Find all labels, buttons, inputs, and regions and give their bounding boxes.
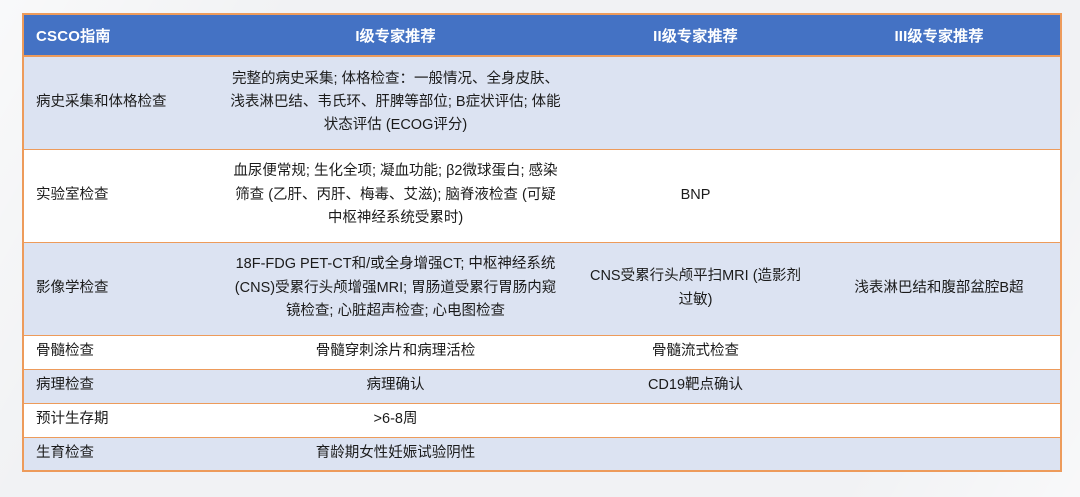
row-level-2-cell (573, 56, 818, 149)
row-level-1-cell: 骨髓穿刺涂片和病理活检 (218, 335, 573, 369)
table-row: 实验室检查 血尿便常规; 生化全项; 凝血功能; β2微球蛋白; 感染筛查 (乙… (23, 149, 1061, 242)
table-row: 病理检查 病理确认 CD19靶点确认 (23, 369, 1061, 403)
row-level-3-cell (818, 56, 1061, 149)
column-header-level-3: III级专家推荐 (818, 14, 1061, 56)
row-level-1-cell: 完整的病史采集; 体格检查：一般情况、全身皮肤、浅表淋巴结、韦氏环、肝脾等部位;… (218, 56, 573, 149)
row-level-2-cell: BNP (573, 149, 818, 242)
row-category-label: 实验室检查 (23, 149, 218, 242)
row-category-label: 病史采集和体格检查 (23, 56, 218, 149)
row-level-3-cell (818, 403, 1061, 437)
column-header-csco-guideline: CSCO指南 (23, 14, 218, 56)
table-row: 生育检查 育龄期女性妊娠试验阴性 (23, 437, 1061, 471)
row-level-3-cell (818, 437, 1061, 471)
row-level-1-cell: 18F-FDG PET-CT和/或全身增强CT; 中枢神经系统 (CNS)受累行… (218, 242, 573, 335)
row-level-1-cell: 育龄期女性妊娠试验阴性 (218, 437, 573, 471)
row-level-1-cell: >6-8周 (218, 403, 573, 437)
row-level-3-cell: 浅表淋巴结和腹部盆腔B超 (818, 242, 1061, 335)
csco-guideline-table: CSCO指南 I级专家推荐 II级专家推荐 III级专家推荐 病史采集和体格检查… (22, 13, 1062, 472)
row-level-3-cell (818, 335, 1061, 369)
row-level-1-cell: 血尿便常规; 生化全项; 凝血功能; β2微球蛋白; 感染筛查 (乙肝、丙肝、梅… (218, 149, 573, 242)
column-header-level-2: II级专家推荐 (573, 14, 818, 56)
table-row: 骨髓检查 骨髓穿刺涂片和病理活检 骨髓流式检查 (23, 335, 1061, 369)
table-body: 病史采集和体格检查 完整的病史采集; 体格检查：一般情况、全身皮肤、浅表淋巴结、… (23, 56, 1061, 471)
table-row: 影像学检查 18F-FDG PET-CT和/或全身增强CT; 中枢神经系统 (C… (23, 242, 1061, 335)
table-header-row: CSCO指南 I级专家推荐 II级专家推荐 III级专家推荐 (23, 14, 1061, 56)
row-category-label: 生育检查 (23, 437, 218, 471)
column-header-level-1: I级专家推荐 (218, 14, 573, 56)
table-header: CSCO指南 I级专家推荐 II级专家推荐 III级专家推荐 (23, 14, 1061, 56)
csco-guideline-table-container: CSCO指南 I级专家推荐 II级专家推荐 III级专家推荐 病史采集和体格检查… (22, 13, 1062, 487)
row-level-2-cell (573, 403, 818, 437)
row-level-1-cell: 病理确认 (218, 369, 573, 403)
row-category-label: 影像学检查 (23, 242, 218, 335)
row-category-label: 病理检查 (23, 369, 218, 403)
row-level-2-cell: CNS受累行头颅平扫MRI (造影剂过敏) (573, 242, 818, 335)
table-row: 病史采集和体格检查 完整的病史采集; 体格检查：一般情况、全身皮肤、浅表淋巴结、… (23, 56, 1061, 149)
row-level-3-cell (818, 369, 1061, 403)
row-level-2-cell: CD19靶点确认 (573, 369, 818, 403)
row-category-label: 预计生存期 (23, 403, 218, 437)
row-level-3-cell (818, 149, 1061, 242)
row-category-label: 骨髓检查 (23, 335, 218, 369)
row-level-2-cell (573, 437, 818, 471)
row-level-2-cell: 骨髓流式检查 (573, 335, 818, 369)
table-row: 预计生存期 >6-8周 (23, 403, 1061, 437)
